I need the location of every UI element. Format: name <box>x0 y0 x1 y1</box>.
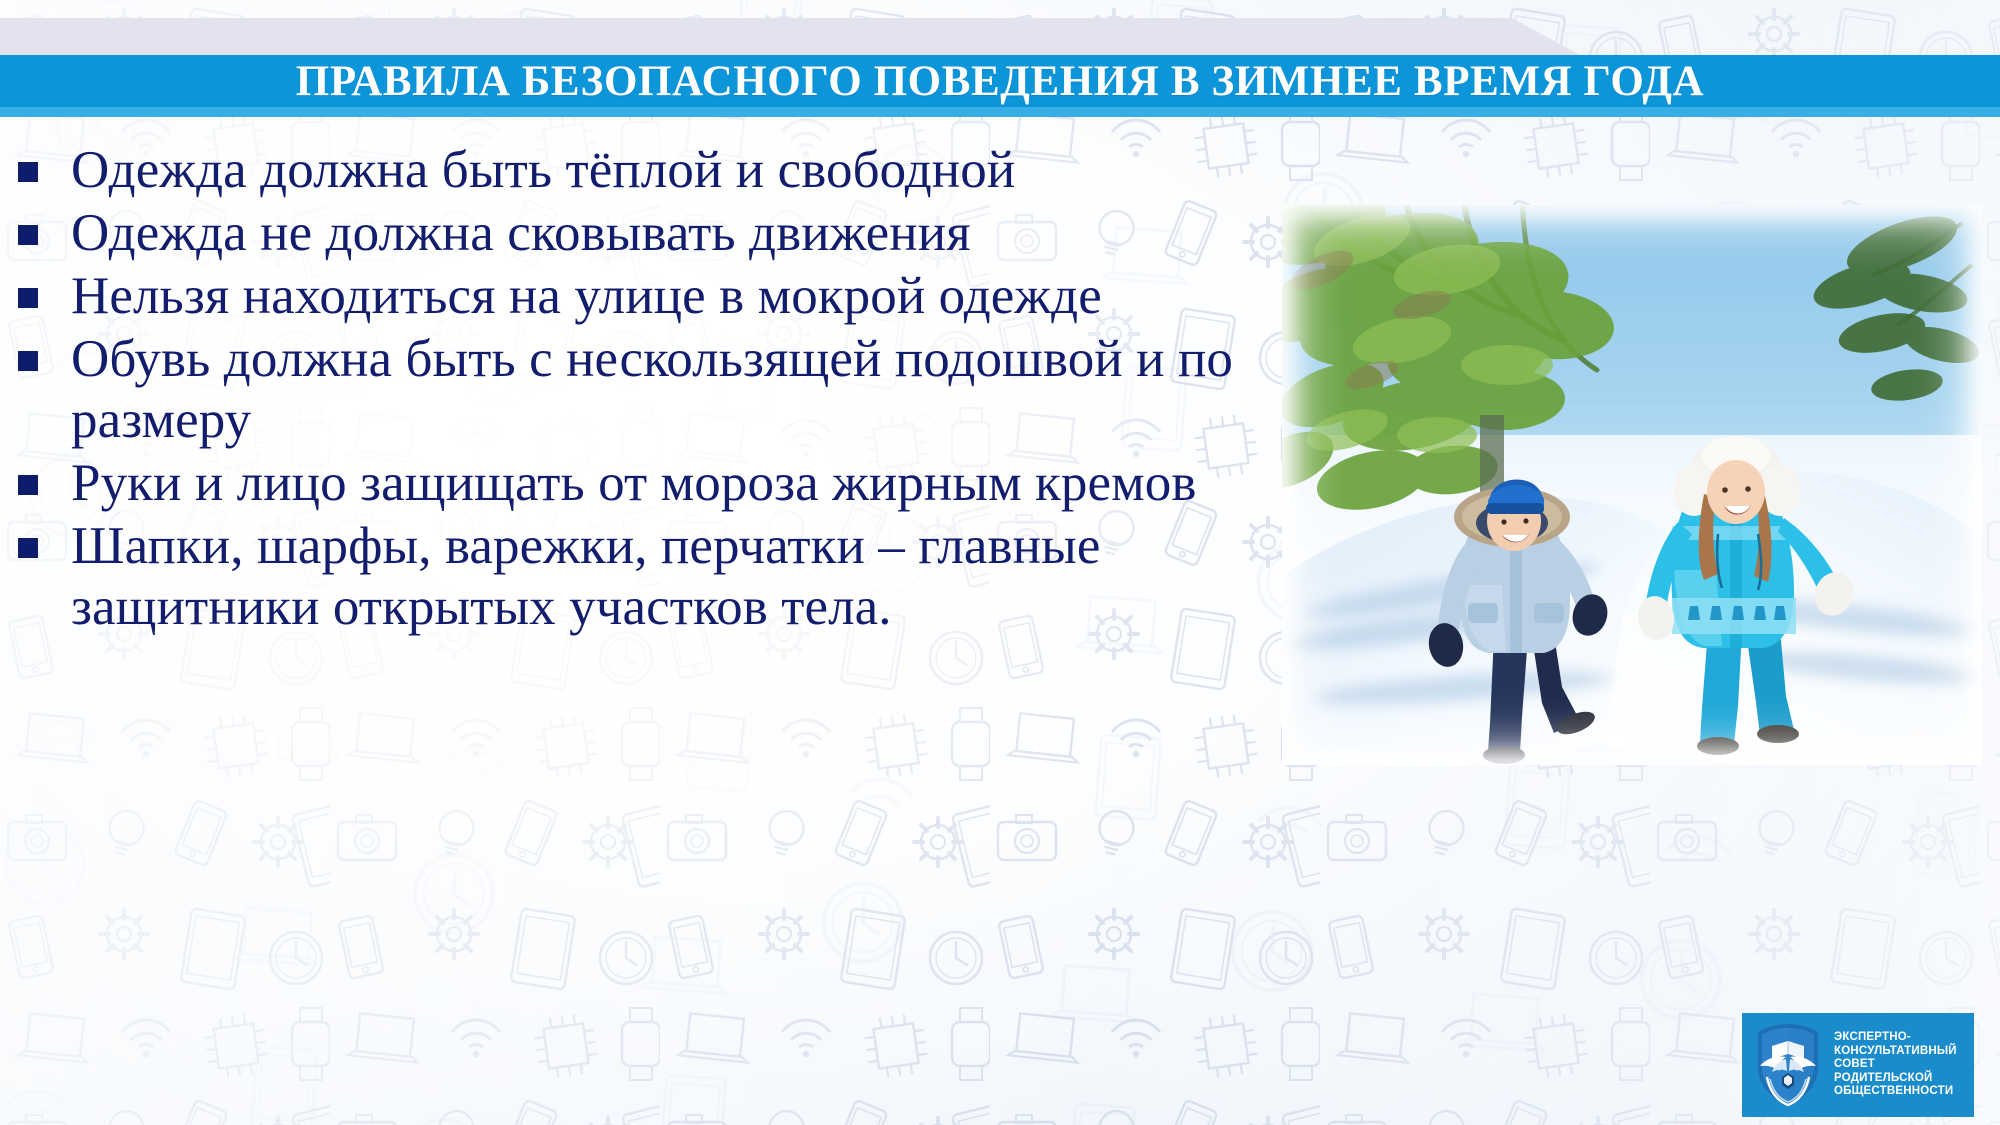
logo-text-line: СОВЕТ <box>1834 1058 1966 1072</box>
list-item: Нельзя находиться на улице в мокрой одеж… <box>18 266 1288 327</box>
list-item-text: Обувь должна быть с нескользящей подошво… <box>71 329 1288 451</box>
winter-children-photo <box>1282 205 1982 765</box>
square-bullet-icon <box>18 225 38 245</box>
list-item: Обувь должна быть с нескользящей подошво… <box>18 329 1288 451</box>
photo-child-girl <box>1612 430 1892 760</box>
square-bullet-icon <box>18 538 38 558</box>
list-item-text: Одежда должна быть тёплой и свободной <box>71 140 1288 201</box>
square-bullet-icon <box>18 162 38 182</box>
list-item: Шапки, шарфы, варежки, перчатки – главны… <box>18 516 1288 638</box>
list-item-text: Нельзя находиться на улице в мокрой одеж… <box>71 266 1288 327</box>
slide-root: ПРАВИЛА БЕЗОПАСНОГО ПОВЕДЕНИЯ В ЗИМНЕЕ В… <box>0 0 2000 1125</box>
logo-text: ЭКСПЕРТНО- КОНСУЛЬТАТИВНЫЙ СОВЕТ РОДИТЕЛ… <box>1834 1031 1966 1099</box>
rules-bullet-list: Одежда должна быть тёплой и свободной Од… <box>18 140 1288 640</box>
square-bullet-icon <box>18 288 38 308</box>
list-item-text: Руки и лицо защищать от мороза жирным кр… <box>71 453 1288 514</box>
top-decorative-band <box>0 18 1580 55</box>
list-item: Одежда не должна сковывать движения <box>18 203 1288 264</box>
square-bullet-icon <box>18 475 38 495</box>
title-bar-underline <box>0 107 2000 117</box>
list-item: Руки и лицо защищать от мороза жирным кр… <box>18 453 1288 514</box>
logo-text-line: РОДИТЕЛЬСКОЙ <box>1834 1072 1966 1086</box>
list-item-text: Шапки, шарфы, варежки, перчатки – главны… <box>71 516 1288 638</box>
shield-book-wings-emblem <box>1750 1021 1826 1109</box>
list-item-text: Одежда не должна сковывать движения <box>71 203 1288 264</box>
list-item: Одежда должна быть тёплой и свободной <box>18 140 1288 201</box>
organization-logo: ЭКСПЕРТНО- КОНСУЛЬТАТИВНЫЙ СОВЕТ РОДИТЕЛ… <box>1742 1013 1974 1117</box>
page-title: ПРАВИЛА БЕЗОПАСНОГО ПОВЕДЕНИЯ В ЗИМНЕЕ В… <box>0 55 2000 107</box>
logo-text-line: КОНСУЛЬТАТИВНЫЙ <box>1834 1045 1966 1059</box>
photo-fir-tree-small <box>1772 215 1982 465</box>
square-bullet-icon <box>18 351 38 371</box>
logo-text-line: ОБЩЕСТВЕННОСТИ <box>1834 1085 1966 1099</box>
logo-text-line: ЭКСПЕРТНО- <box>1834 1031 1966 1045</box>
